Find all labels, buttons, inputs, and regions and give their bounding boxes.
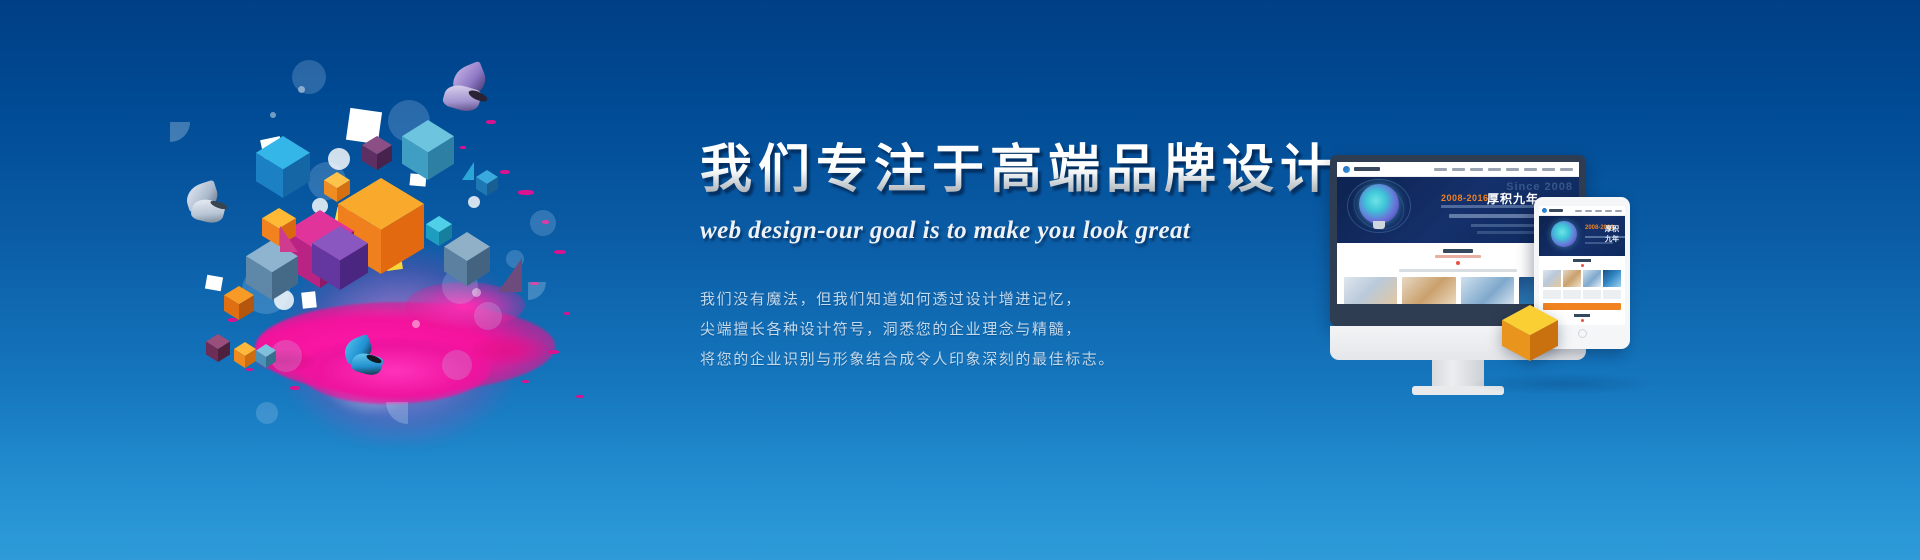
thumbnail-row [1543, 270, 1621, 287]
thumbnail-item[interactable] [1461, 277, 1514, 304]
caption-row [1543, 290, 1621, 299]
thumbnail-item[interactable] [1402, 277, 1455, 304]
nav-item [1615, 210, 1622, 212]
cube-3d-orange-mini [324, 172, 350, 202]
paint-speck [576, 395, 584, 398]
banner-copy: 我们专注于高端品牌设计 web design-our goal is to ma… [700, 140, 1340, 375]
hero-text-bar [1585, 236, 1625, 238]
hero-text-bar [1449, 214, 1545, 218]
hero-years-label: 2008-2016 [1441, 193, 1489, 203]
cube-3d-violet [312, 226, 368, 290]
bokeh-circle [474, 302, 502, 330]
section-title-bar [1573, 259, 1591, 262]
section-accent-dot [1581, 319, 1584, 322]
nav-item [1524, 168, 1537, 171]
paint-speck [246, 368, 253, 371]
site-nav-items [1434, 168, 1573, 171]
cube-3d-blue-mini [476, 170, 498, 196]
description-line: 尖端擅长各种设计符号，洞悉您的企业理念与精髓， [700, 315, 1340, 345]
caption-item [1583, 290, 1601, 299]
paint-speck [500, 170, 510, 174]
thumbnail-item[interactable] [1583, 270, 1601, 287]
bokeh-circle [328, 148, 350, 170]
nav-item [1470, 168, 1483, 171]
paint-speck [290, 386, 300, 390]
paint-speck [564, 312, 570, 315]
nav-item [1452, 168, 1465, 171]
nav-item [1585, 210, 1592, 212]
abstract-artwork [150, 50, 710, 500]
thumbnail-item[interactable] [1563, 270, 1581, 287]
description-line: 我们没有魔法，但我们知道如何透过设计增进记忆， [700, 285, 1340, 315]
banner-description: 我们没有魔法，但我们知道如何透过设计增进记忆， 尖端擅长各种设计符号，洞悉您的企… [700, 285, 1340, 375]
bokeh-circle [412, 320, 420, 328]
butterfly-purple [432, 66, 496, 118]
cube-3d-amber-mini [234, 342, 256, 368]
section-title-bar [1574, 314, 1590, 317]
cube-3d-darkplum [206, 334, 230, 362]
site-logo-text [1354, 167, 1380, 171]
arc-fragment [170, 122, 190, 142]
nav-item [1605, 210, 1612, 212]
caption-item [1563, 290, 1581, 299]
section-subtitle-bar [1435, 255, 1481, 258]
device-mockup-group: Since 2008 2008-2016 厚积九年 [1318, 155, 1678, 405]
bokeh-circle [442, 350, 472, 380]
tablet-home-button[interactable] [1578, 329, 1587, 338]
tablet-site-navbar [1539, 206, 1625, 216]
shard-triangle [462, 162, 474, 180]
caption-item [1543, 290, 1561, 299]
nav-item [1595, 210, 1602, 212]
hero-text-bar [1585, 242, 1613, 244]
white-square [301, 291, 317, 308]
paint-speck [522, 380, 529, 383]
arc-fragment [528, 282, 546, 300]
site-logo-icon [1343, 166, 1350, 173]
nav-item [1488, 168, 1501, 171]
shard-triangle [498, 258, 522, 292]
page-title: 我们专注于高端品牌设计 [700, 140, 1340, 201]
shard-triangle [280, 226, 298, 252]
site-navbar [1337, 162, 1579, 177]
device-shadow [1468, 373, 1658, 395]
orange-3d-cube [1502, 305, 1558, 361]
cube-3d-purple [362, 136, 392, 170]
bokeh-circle [530, 210, 556, 236]
paint-speck [548, 350, 559, 354]
bokeh-circle [298, 86, 305, 93]
butterfly-silver [182, 182, 238, 228]
paint-speck [518, 190, 534, 195]
thumbnail-item[interactable] [1543, 270, 1561, 287]
cube-3d-blue [256, 136, 310, 198]
site-logo-text [1549, 209, 1563, 212]
nav-item [1560, 168, 1573, 171]
page-subtitle: web design-our goal is to make you look … [700, 217, 1340, 245]
description-line: 将您的企业识别与形象结合成令人印象深刻的最佳标志。 [700, 345, 1340, 375]
section-accent-dot [1456, 261, 1460, 265]
section-title-bar [1443, 249, 1473, 253]
bokeh-circle [472, 288, 481, 297]
nav-item [1506, 168, 1519, 171]
cube-3d-cyan-mini [426, 216, 452, 246]
white-square [205, 275, 223, 292]
paint-speck [486, 120, 496, 124]
nav-item [1575, 210, 1582, 212]
cube-3d-teal [402, 120, 454, 180]
paint-speck [554, 250, 566, 254]
bokeh-circle [468, 196, 480, 208]
lightbulb-graphic [1359, 184, 1399, 224]
butterfly-blue [340, 338, 392, 380]
lightbulb-graphic [1551, 221, 1577, 247]
caption-item [1603, 290, 1621, 299]
site-logo-icon [1542, 208, 1547, 213]
paint-speck [460, 146, 466, 149]
nav-item [1434, 168, 1447, 171]
hero-title: 厚积九年 [1605, 224, 1625, 244]
thumbnail-item[interactable] [1344, 277, 1397, 304]
cube-3d-ice [256, 344, 276, 368]
bokeh-circle [270, 112, 276, 118]
site-nav-items [1575, 210, 1622, 212]
cube-3d-plum [224, 286, 254, 320]
tablet-hero-banner: 2008-2016 厚积九年 [1539, 216, 1625, 256]
section-desc-bar [1399, 269, 1517, 272]
bokeh-circle [256, 402, 278, 424]
section-accent-dot [1581, 264, 1584, 267]
nav-item [1542, 168, 1555, 171]
thumbnail-item[interactable] [1603, 270, 1621, 287]
